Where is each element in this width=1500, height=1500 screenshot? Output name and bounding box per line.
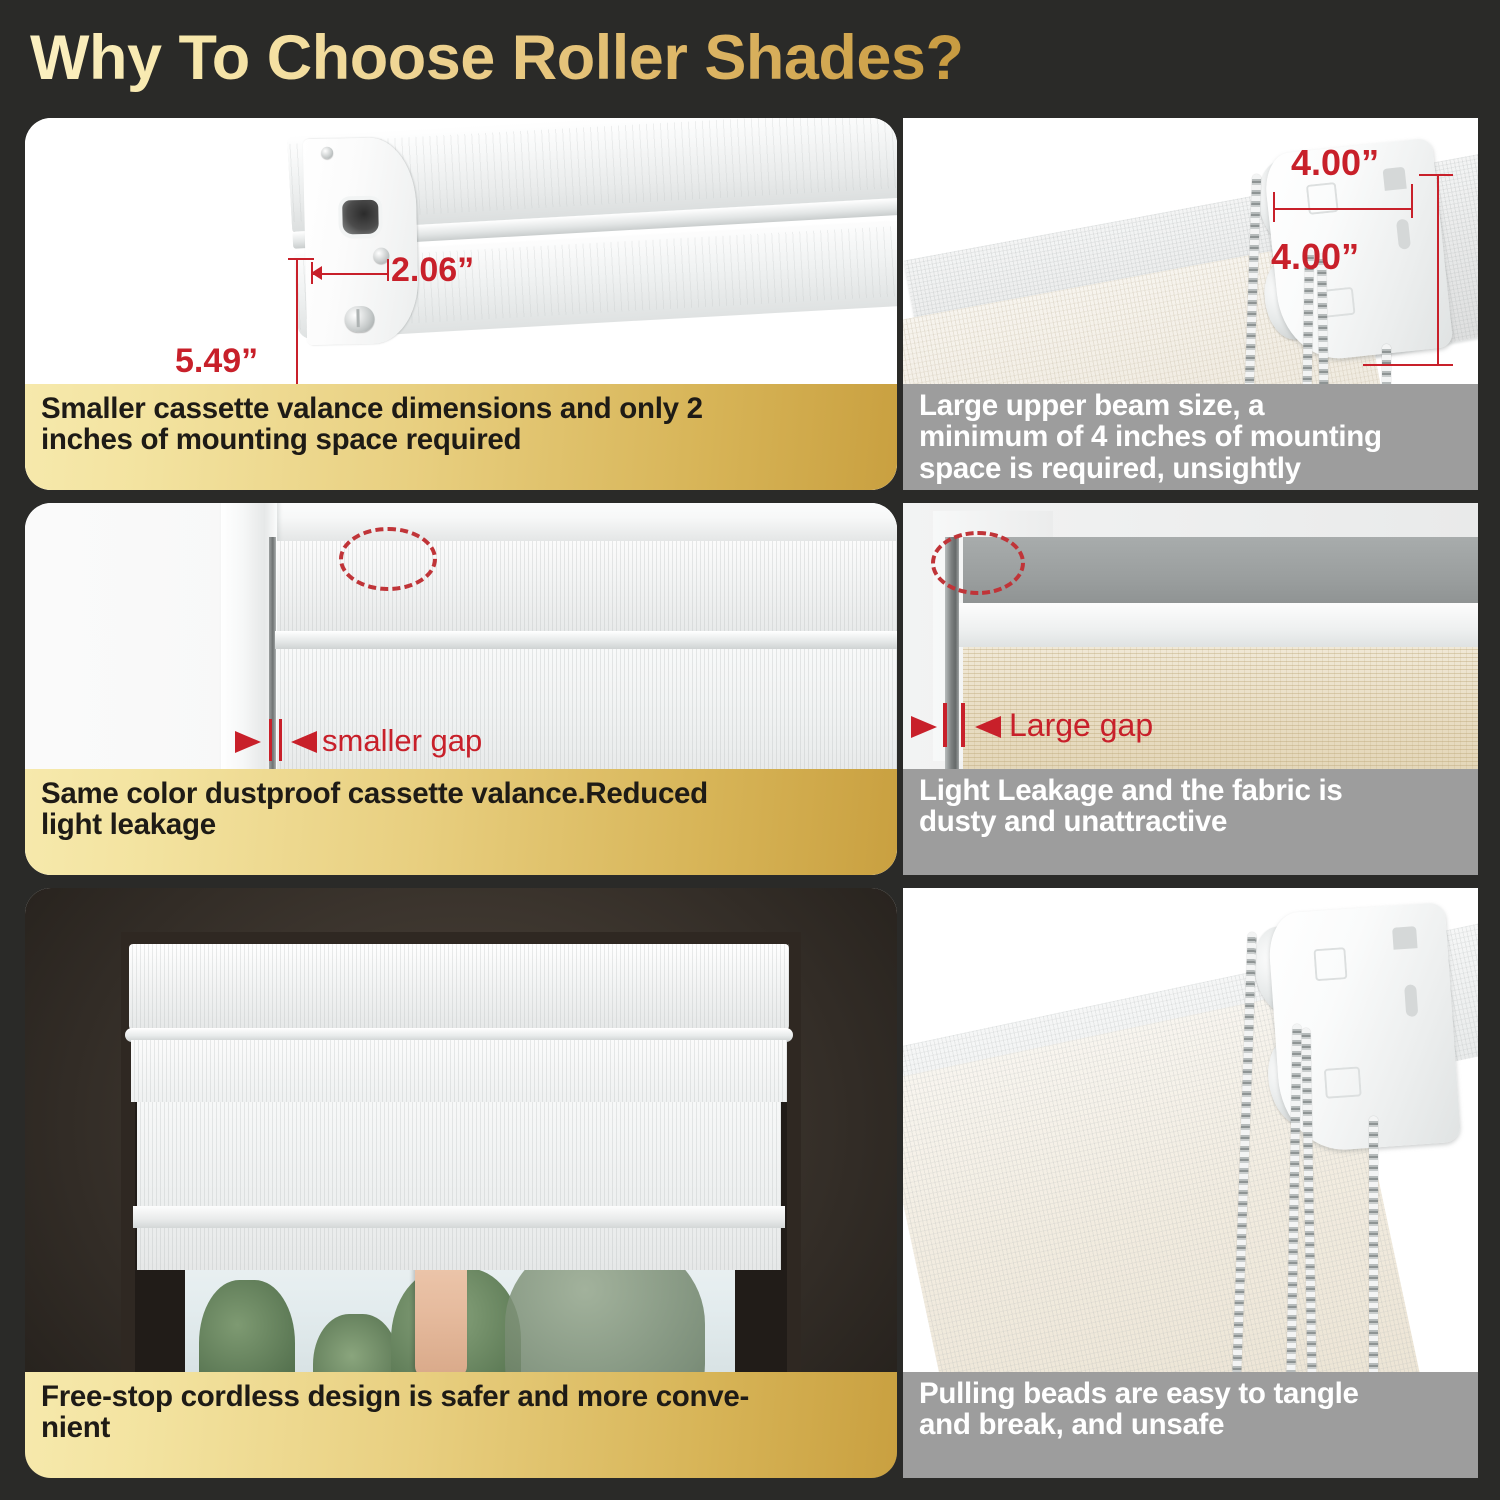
panel-large-upper-beam-caption: Large upper beam size, a minimum of 4 in… <box>903 384 1478 490</box>
panel-cordless-design: Free-stop cordless design is safer and m… <box>25 888 897 1478</box>
bracket-emboss-icon <box>1324 1066 1362 1098</box>
caption-line-2: dusty and unattractive <box>919 806 1462 837</box>
gap-arrow-left-icon <box>291 731 317 753</box>
shade-top-edge <box>959 603 1478 647</box>
caption-line-1: Large upper beam size, a <box>919 390 1462 421</box>
width-dimension-line <box>311 273 389 275</box>
panel-cordless-design-caption: Free-stop cordless design is safer and m… <box>25 1372 897 1478</box>
window-head-trim <box>221 503 897 541</box>
bracket-slot-icon <box>1396 219 1411 250</box>
caption-line-2: inches of mounting space required <box>41 424 881 455</box>
panel-pulling-beads: Pulling beads are easy to tangle and bre… <box>903 888 1478 1478</box>
caption-line-2: nient <box>41 1412 881 1443</box>
bracket-emboss-icon <box>1313 947 1347 981</box>
caption-line-1: Light Leakage and the fabric is <box>919 775 1462 806</box>
panel-light-leakage: Large gap Light Leakage and the fabric i… <box>903 503 1478 875</box>
panel-light-leakage-caption: Light Leakage and the fabric is dusty an… <box>903 769 1478 875</box>
upper-beam-shadow <box>963 537 1478 607</box>
bracket-notch-icon <box>1383 167 1407 191</box>
caption-line-1: Pulling beads are easy to tangle <box>919 1378 1462 1409</box>
shade-bottom-rail <box>133 1206 785 1228</box>
panel-cassette-valance-caption: Smaller cassette valance dimensions and … <box>25 384 897 490</box>
end-cap-screw-icon <box>321 147 333 159</box>
gap-marker-line <box>279 719 282 761</box>
panel-dustproof-valance-caption: Same color dustproof cassette valance.Re… <box>25 769 897 875</box>
end-cap-slot-icon <box>342 200 379 235</box>
height-dimension-label: 4.00” <box>1271 236 1359 278</box>
gap-highlight-ellipse <box>931 531 1025 595</box>
caption-line-1: Free-stop cordless design is safer and m… <box>41 1381 881 1412</box>
height-dimension-line <box>1437 174 1439 366</box>
shade-mid-rail <box>275 631 897 649</box>
panel-cassette-valance: 2.06” 5.49” Smaller cassette valance dim… <box>25 118 897 490</box>
gap-arrow-right-icon <box>911 716 937 738</box>
width-dimension-label: 4.00” <box>1291 142 1379 184</box>
gap-label: Large gap <box>1009 707 1153 744</box>
width-arrow-left-icon <box>311 266 322 280</box>
panel-pulling-beads-caption: Pulling beads are easy to tangle and bre… <box>903 1372 1478 1478</box>
caption-line-2: minimum of 4 inches of mounting <box>919 421 1462 452</box>
width-dimension-line <box>1273 208 1413 210</box>
panel-dustproof-valance: smaller gap Same color dustproof cassett… <box>25 503 897 875</box>
title-bar: Why To Choose Roller Shades? <box>0 0 1500 108</box>
height-dimension-label: 5.49” <box>175 342 258 381</box>
shade-upper-fabric <box>131 1040 787 1102</box>
valance-end-cap <box>303 137 419 345</box>
gap-highlight-ellipse <box>339 527 437 591</box>
gap-marker-line <box>961 703 965 747</box>
height-dimension-tick <box>1419 174 1453 176</box>
caption-line-1: Same color dustproof cassette valance.Re… <box>41 778 881 809</box>
caption-line-3: space is required, unsightly <box>919 453 1462 484</box>
width-dimension-tick <box>1273 192 1275 222</box>
page-title: Why To Choose Roller Shades? <box>30 22 963 94</box>
shade-cassette-valance <box>129 944 789 1030</box>
bracket-slot-icon <box>1404 984 1418 1017</box>
gap-label: smaller gap <box>322 723 482 759</box>
caption-line-1: Smaller cassette valance dimensions and … <box>41 393 881 424</box>
width-dimension-label: 2.06” <box>391 251 474 290</box>
gap-arrow-left-icon <box>975 716 1001 738</box>
gap-arrow-right-icon <box>235 731 261 753</box>
width-dimension-tick <box>1411 184 1413 218</box>
caption-line-2: and break, and unsafe <box>919 1409 1462 1440</box>
gap-marker-line <box>943 703 947 747</box>
bracket-notch-icon <box>1392 926 1417 950</box>
height-dimension-tick <box>288 258 314 260</box>
cassette-valance-illustration <box>287 118 897 366</box>
shade-body-fabric <box>137 1102 781 1270</box>
end-cap-pin-icon <box>344 306 375 333</box>
width-dimension-tick <box>387 259 389 281</box>
height-dimension-tick <box>1363 364 1453 366</box>
caption-line-2: light leakage <box>41 809 881 840</box>
gap-marker-line <box>269 719 272 761</box>
panel-large-upper-beam: 4.00” 4.00” Large upper beam size, a min… <box>903 118 1478 490</box>
